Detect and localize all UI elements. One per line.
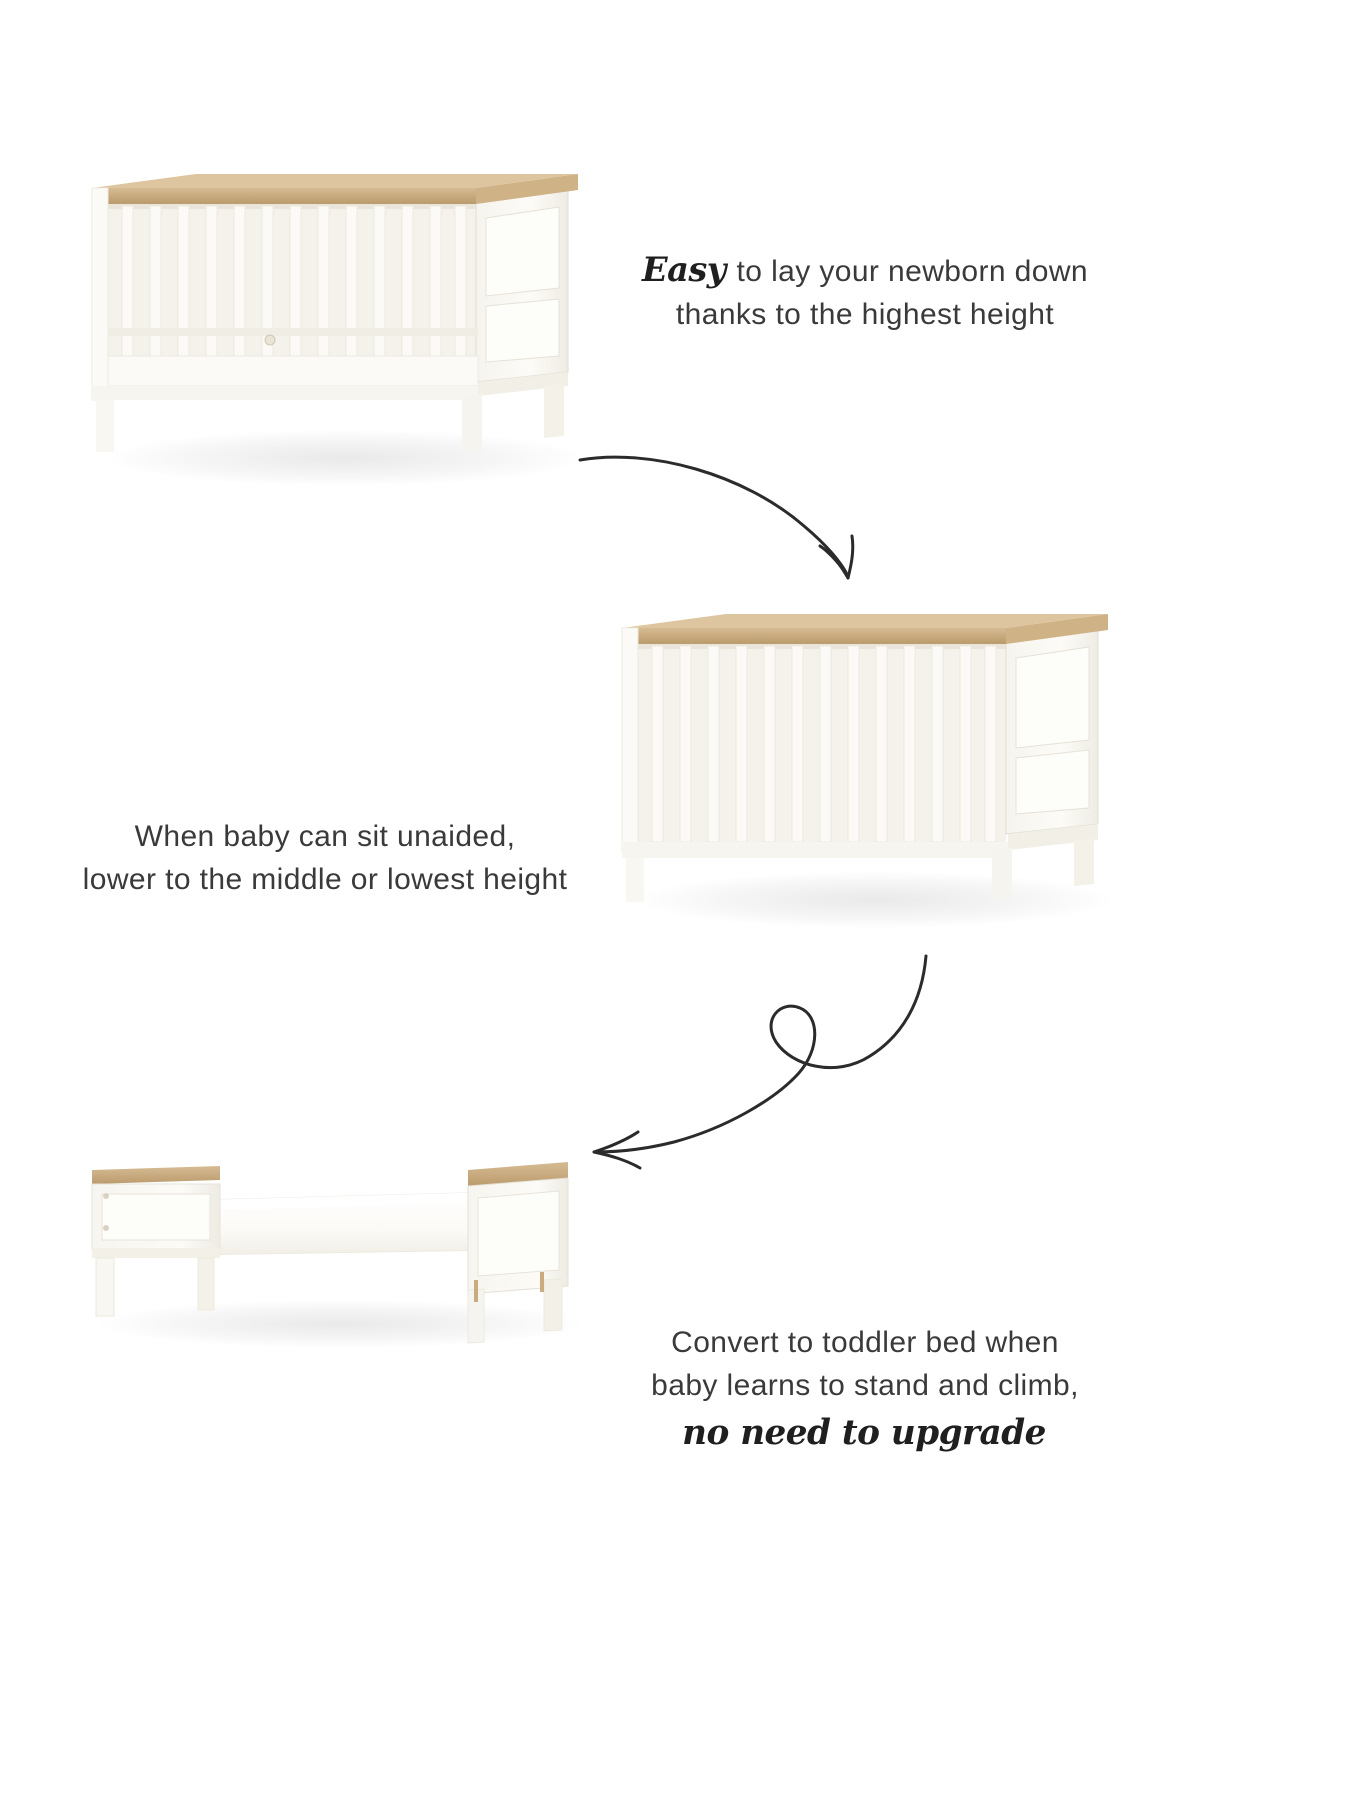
caption-bottom-script-line: no need to upgrade xyxy=(640,1409,1090,1458)
cot-bed-highest-image xyxy=(70,160,590,460)
caption-top-line-2: thanks to the highest height xyxy=(630,294,1100,337)
caption-top-line-1-rest: to lay your newborn down xyxy=(728,255,1088,288)
toddler-bed-image xyxy=(70,1130,590,1360)
caption-top-line-1: Easy to lay your newborn down xyxy=(630,246,1100,294)
caption-toddler-bed: Convert to toddler bed when baby learns … xyxy=(640,1322,1090,1458)
caption-bottom-line-2: baby learns to stand and climb, xyxy=(640,1365,1090,1408)
caption-bottom-line-1: Convert to toddler bed when xyxy=(640,1322,1090,1365)
caption-mid-line-2: lower to the middle or lowest height xyxy=(60,859,590,902)
cot-bed-lowest-image xyxy=(600,600,1120,910)
caption-top-script-word: Easy xyxy=(642,249,728,289)
looping-squiggle-arrow-left-icon xyxy=(570,950,990,1210)
caption-highest-height: Easy to lay your newborn down thanks to … xyxy=(630,246,1100,336)
curved-arrow-down-right-icon xyxy=(576,378,956,608)
infographic-canvas: Easy to lay your newborn down thanks to … xyxy=(0,0,1350,1800)
caption-lower-height: When baby can sit unaided, lower to the … xyxy=(60,816,590,901)
caption-mid-line-1: When baby can sit unaided, xyxy=(60,816,590,859)
